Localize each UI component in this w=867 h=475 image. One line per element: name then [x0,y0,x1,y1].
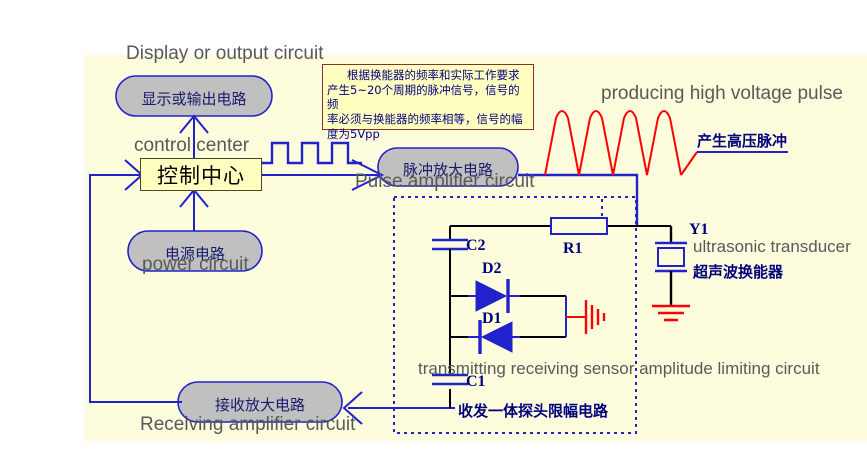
wire-limiter-to-receive-amp [344,392,455,424]
refdes-c2: C2 [466,238,486,254]
wire-power-to-control [180,190,208,231]
note-line-3: 率必须与换能器的频率相等，信号的幅 [327,112,529,127]
refdes-c1: C1 [466,374,486,390]
wire-feedback-bus-left [90,160,182,402]
transducer-icon-y1 [655,226,687,305]
note-box-pulse-spec: 根据换能器的频率和实际工作要求 产生5~20个周期的脉冲信号，信号的频 率必须与… [322,64,534,130]
label-display-output-cn: 显示或输出电路 [116,88,272,109]
ground-icon-transducer [652,306,690,320]
label-receive-amp-cn: 接收放大电路 [178,394,342,415]
waveform-square-pulse-train [262,143,362,163]
label-control-center-en: control center [134,136,249,155]
label-control-center-cn: 控制中心 [157,160,245,190]
label-transducer-cn: 超声波换能器 [693,265,783,280]
resistor-icon [551,218,607,234]
refdes-r1: R1 [563,241,583,257]
diode-icon-d2 [468,279,520,313]
block-control-center: 控制中心 [140,158,262,191]
note-line-4: 度为5Vpp [327,127,529,142]
label-transducer-en: ultrasonic transducer [693,238,851,255]
label-limiter-cn: 收发一体探头限幅电路 [458,404,608,419]
label-power-circuit-en: power circuit [142,255,249,274]
label-pulse-amp-en: Pulse amplifier circuit [355,172,535,191]
label-receive-amp-en: Receiving amplifier circuit [140,415,355,434]
ground-icon-limiter [586,300,604,334]
refdes-d1: D1 [482,311,502,327]
label-high-voltage-en: producing high voltage pulse [601,84,843,103]
label-display-output-en: Display or output circuit [126,44,323,63]
note-line-1: 根据换能器的频率和实际工作要求 [327,68,529,83]
capacitor-icon-c2 [432,240,468,254]
label-high-voltage-cn: 产生高压脉冲 [697,134,787,149]
refdes-y1: Y1 [689,222,709,238]
refdes-d2: D2 [482,261,502,277]
note-line-2: 产生5~20个周期的脉冲信号，信号的频 [327,83,529,112]
circuit-diagram-canvas: Display or output circuit 显示或输出电路 根据换能器的… [0,0,867,475]
